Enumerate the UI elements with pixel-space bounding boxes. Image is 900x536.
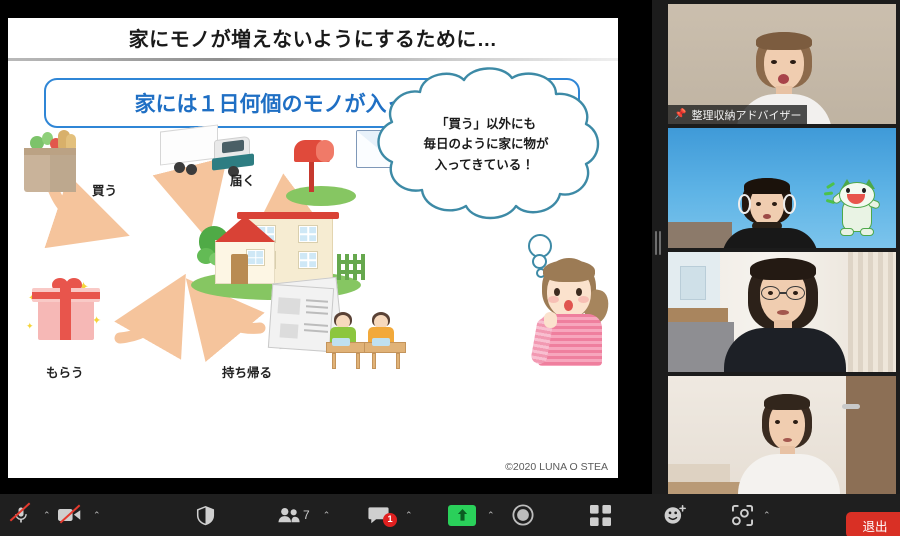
pin-icon: 📌 — [674, 109, 686, 120]
participants-caret[interactable]: ⌃ — [323, 510, 331, 521]
leave-meeting-button[interactable]: 退出 — [846, 512, 900, 536]
security-button[interactable] — [196, 494, 215, 536]
video-background-3 — [668, 252, 896, 372]
diagram-label-receive: もらう — [46, 362, 84, 381]
record-icon — [512, 504, 534, 526]
video-options-caret[interactable]: ⌃ — [93, 510, 101, 521]
video-tile-3[interactable] — [668, 252, 896, 372]
door — [846, 376, 896, 496]
thinking-girl-icon — [528, 256, 616, 366]
participant-video-2 — [736, 178, 806, 248]
share-screen-button[interactable]: ⌃ — [448, 494, 495, 536]
mute-options-caret[interactable]: ⌃ — [43, 510, 51, 521]
participants-button[interactable]: 7 ⌃ — [278, 494, 330, 536]
share-caret[interactable]: ⌃ — [487, 510, 495, 521]
chat-icon: 1 — [368, 506, 389, 525]
shopping-bag-icon — [20, 130, 80, 192]
diagram-label-buy: 買う — [92, 180, 117, 199]
shield-icon — [196, 505, 215, 526]
participant-video-3 — [742, 258, 828, 372]
blinds — [848, 252, 896, 372]
diagram-label-delivered: 届く — [230, 170, 255, 189]
breakout-rooms-button[interactable]: ⌃ — [732, 494, 771, 536]
cat-mascot-icon — [834, 180, 880, 242]
apps-button[interactable] — [590, 494, 611, 536]
video-tile-2[interactable] — [668, 128, 896, 248]
shared-screen-stage[interactable]: 家にモノが増えないようにするために… 家には１日何個のモノが入ってくる？ — [0, 0, 652, 494]
door-handle — [842, 404, 860, 409]
chat-button[interactable]: 1 ⌃ — [368, 494, 413, 536]
chat-caret[interactable]: ⌃ — [405, 510, 413, 521]
share-screen-icon — [448, 505, 476, 526]
video-background-4 — [668, 376, 896, 496]
zoom-meeting-window: 家にモノが増えないようにするために… 家には１日何個のモノが入ってくる？ — [0, 0, 900, 536]
camera-muted-icon — [56, 502, 84, 528]
gift-box-icon: ✦ ✦ ✦ ✦ — [26, 272, 106, 350]
slide-title-divider — [8, 58, 618, 61]
participants-count: 7 — [303, 508, 310, 522]
thought-bubble: 「買う」以外にも 毎日のように家に物が 入ってきている ！ — [360, 66, 610, 236]
video-tile-1[interactable]: 📌 整理収納アドバイザー — [668, 4, 896, 124]
participant-name-bar-1: 📌 整理収納アドバイザー — [668, 105, 807, 124]
participant-video-4 — [752, 394, 824, 496]
video-thumbnail-strip: 📌 整理収納アドバイザー — [664, 0, 900, 494]
diagram-label-bring-home: 持ち帰る — [222, 362, 272, 381]
breakout-caret[interactable]: ⌃ — [763, 510, 771, 521]
reactions-button[interactable] — [664, 494, 687, 536]
breakout-rooms-icon — [732, 505, 753, 526]
mute-button[interactable]: ⌃ — [8, 494, 51, 536]
presentation-slide: 家にモノが増えないようにするために… 家には１日何個のモノが入ってくる？ — [8, 18, 618, 478]
slide-title: 家にモノが増えないようにするために… — [129, 23, 498, 52]
microphone-muted-icon — [8, 502, 34, 528]
reactions-smiley-icon — [664, 505, 687, 525]
shelf — [668, 308, 728, 322]
participants-icon — [278, 507, 300, 523]
participant-name-1: 整理収納アドバイザー — [691, 107, 801, 123]
slide-title-bar: 家にモノが増えないようにするために… — [8, 18, 618, 57]
picture-frame — [680, 266, 706, 300]
apps-grid-icon — [590, 505, 611, 526]
video-tile-4[interactable] — [668, 376, 896, 496]
chat-unread-badge: 1 — [383, 513, 397, 527]
desk-edge — [668, 222, 732, 248]
video-button[interactable]: ⌃ — [56, 494, 101, 536]
meeting-toolbar: ⌃ ⌃ — [0, 494, 900, 536]
panel-splitter-handle[interactable] — [654, 230, 662, 256]
record-button[interactable] — [512, 494, 534, 536]
video-background-2 — [668, 128, 896, 248]
slide-copyright: ©2020 LUNA O STEA — [505, 461, 608, 473]
thought-bubble-text: 「買う」以外にも 毎日のように家に物が 入ってきている ！ — [388, 114, 584, 175]
school-kids-icon — [326, 308, 418, 372]
